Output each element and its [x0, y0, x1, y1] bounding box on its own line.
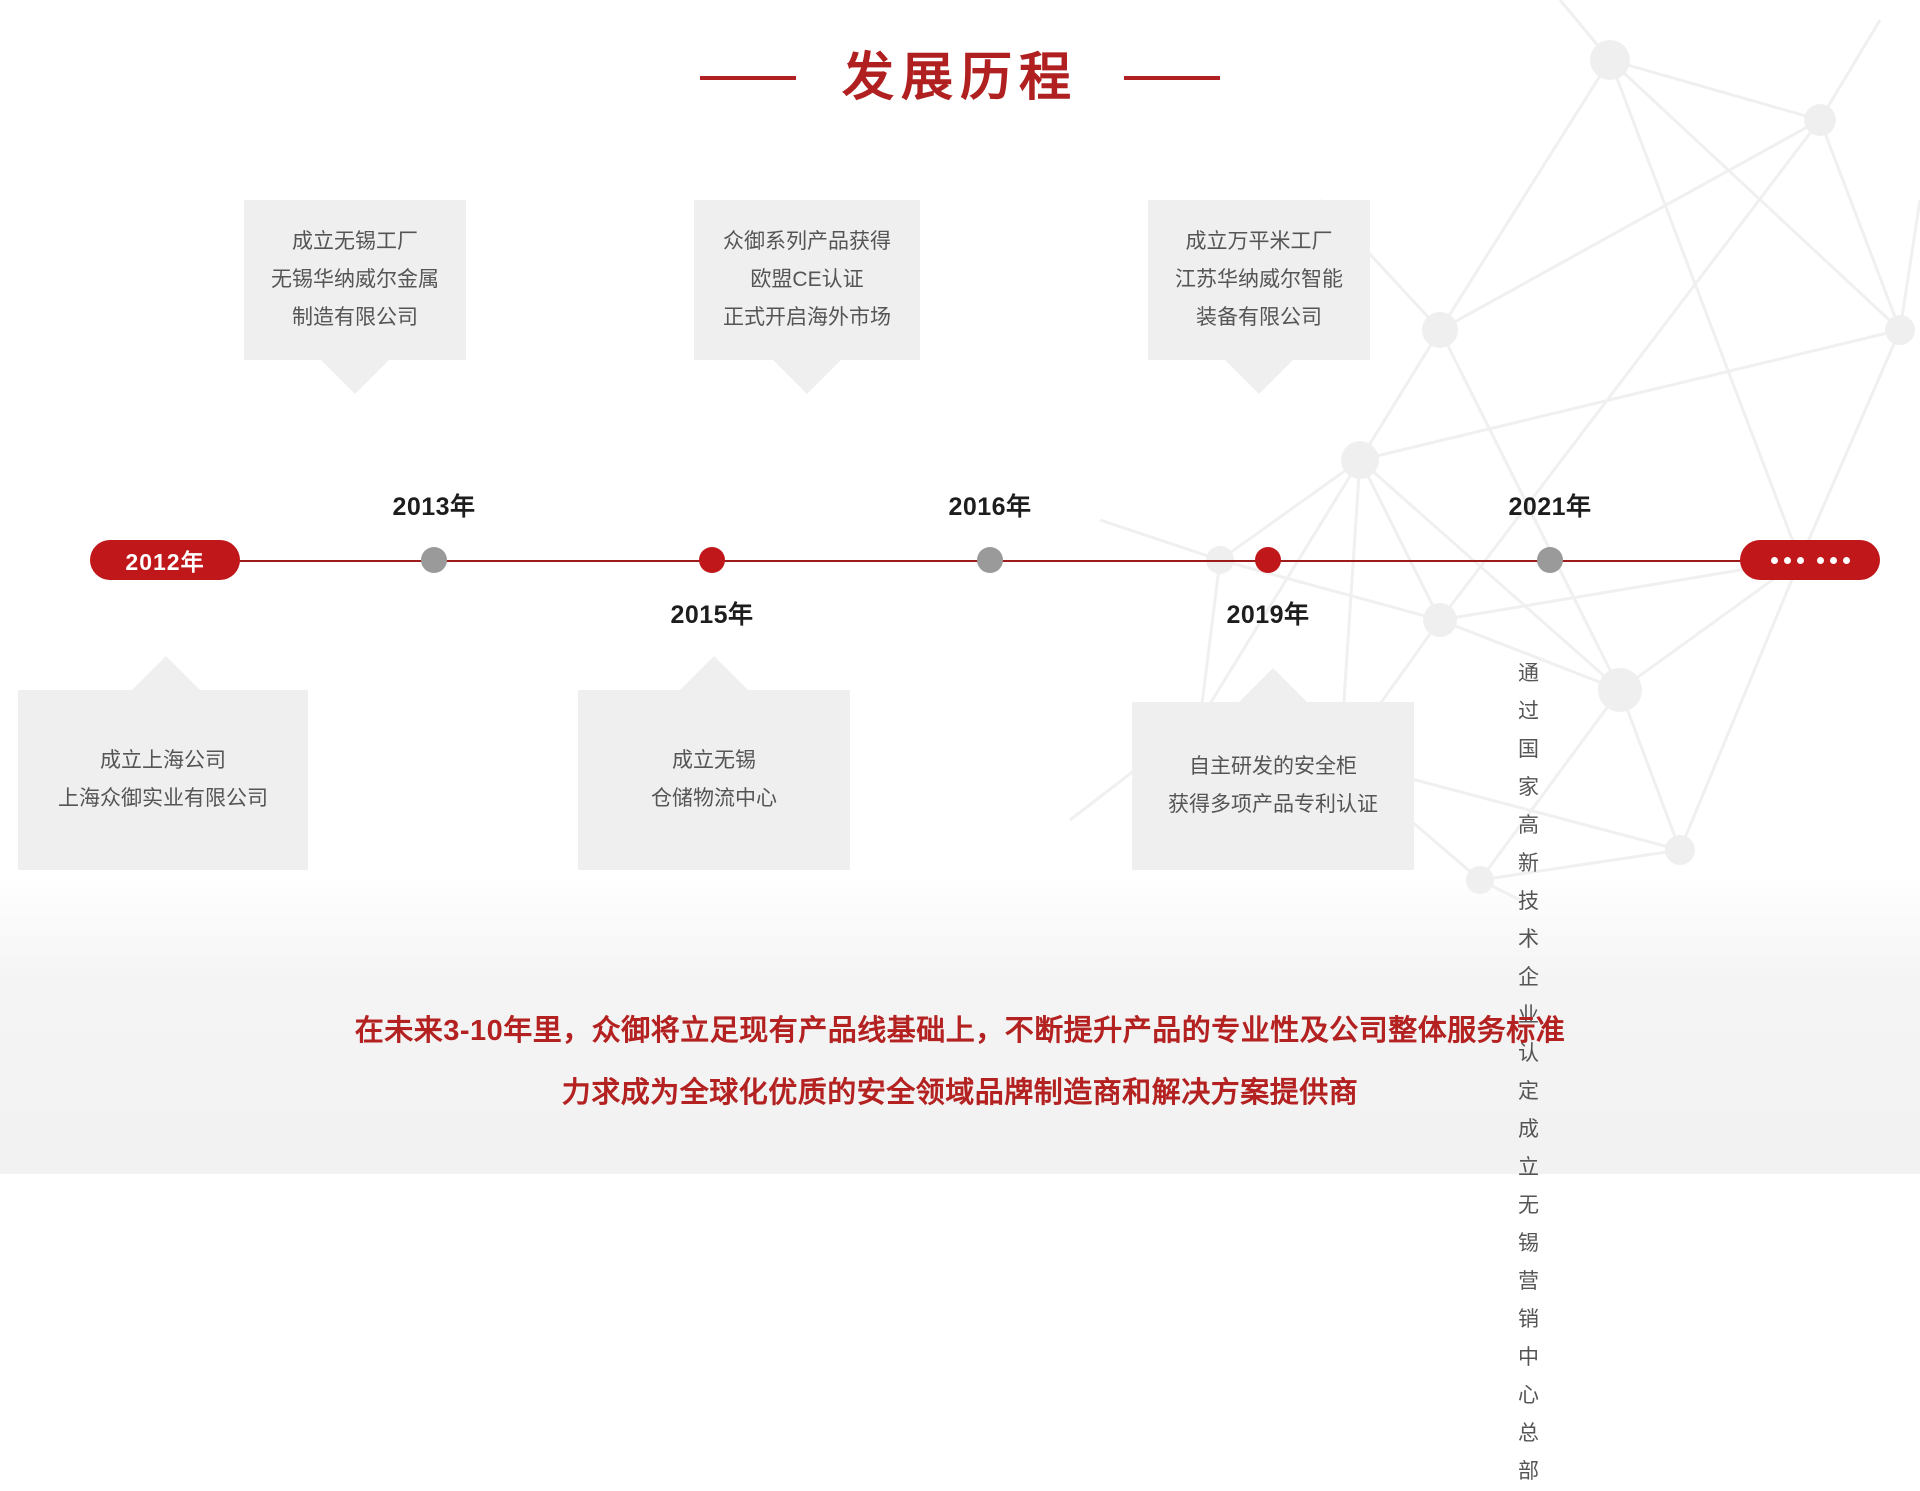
footer-statement: 在未来3-10年里，众御将立足现有产品线基础上，不断提升产品的专业性及公司整体服… — [0, 1000, 1920, 1124]
page-title: 发展历程 — [842, 52, 1078, 104]
year-label-2015: 2015年 — [670, 595, 753, 631]
timeline-start-badge-label: 2012年 — [125, 543, 204, 577]
milestone-card-2021[interactable]: 成立万平米工厂 江苏华纳威尔智能 装备有限公司 — [1148, 200, 1370, 360]
year-label-2013: 2013年 — [392, 487, 475, 523]
title-rule-right-icon — [1124, 76, 1220, 80]
card-notch-up-icon — [132, 656, 200, 690]
ellipsis-icon — [1771, 557, 1850, 564]
timeline-axis-line — [165, 560, 1755, 562]
timeline-node-2021[interactable] — [1537, 547, 1563, 573]
footer-line-1: 在未来3-10年里，众御将立足现有产品线基础上，不断提升产品的专业性及公司整体服… — [0, 1000, 1920, 1062]
timeline-node-2019[interactable] — [1255, 547, 1281, 573]
milestone-card-2012-text: 成立上海公司 上海众御实业有限公司 — [48, 742, 278, 818]
milestone-card-2012[interactable]: 成立上海公司 上海众御实业有限公司 — [18, 690, 308, 870]
year-label-2019: 2019年 — [1226, 595, 1309, 631]
milestone-card-2016-text: 众御系列产品获得 欧盟CE认证 正式开启海外市场 — [713, 223, 901, 337]
milestone-card-2013[interactable]: 成立无锡工厂 无锡华纳威尔金属 制造有限公司 — [244, 200, 466, 360]
timeline-node-2016[interactable] — [977, 547, 1003, 573]
milestone-card-2013-text: 成立无锡工厂 无锡华纳威尔金属 制造有限公司 — [261, 223, 449, 337]
milestone-card-2021-text: 成立万平米工厂 江苏华纳威尔智能 装备有限公司 — [1165, 223, 1353, 337]
milestone-card-2015[interactable]: 成立无锡 仓储物流中心 — [578, 690, 850, 870]
card-notch-down-icon — [1225, 360, 1293, 394]
milestone-card-2015-text: 成立无锡 仓储物流中心 — [641, 742, 787, 818]
milestone-card-2016[interactable]: 众御系列产品获得 欧盟CE认证 正式开启海外市场 — [694, 200, 920, 360]
milestone-card-2019-text: 自主研发的安全柜 获得多项产品专利认证 — [1158, 748, 1388, 824]
page-title-block: 发展历程 — [0, 52, 1920, 104]
card-notch-up-icon — [680, 656, 748, 690]
timeline-node-2015[interactable] — [699, 547, 725, 573]
card-notch-down-icon — [321, 360, 389, 394]
timeline-stage: 发展历程 成立无锡工厂 无锡华纳威尔金属 制造有限公司 众御系列产品获得 欧盟C… — [0, 0, 1920, 1174]
footer-line-2: 力求成为全球化优质的安全领域品牌制造商和解决方案提供商 — [0, 1062, 1920, 1124]
timeline-end-badge-ellipsis[interactable] — [1740, 540, 1880, 580]
timeline-start-badge-2012[interactable]: 2012年 — [90, 540, 240, 580]
title-rule-left-icon — [700, 76, 796, 80]
year-label-2021: 2021年 — [1508, 487, 1591, 523]
card-notch-up-icon — [1239, 668, 1307, 702]
timeline-node-2013[interactable] — [421, 547, 447, 573]
milestone-card-2019[interactable]: 自主研发的安全柜 获得多项产品专利认证 — [1132, 702, 1414, 870]
year-label-2016: 2016年 — [948, 487, 1031, 523]
card-notch-down-icon — [773, 360, 841, 394]
